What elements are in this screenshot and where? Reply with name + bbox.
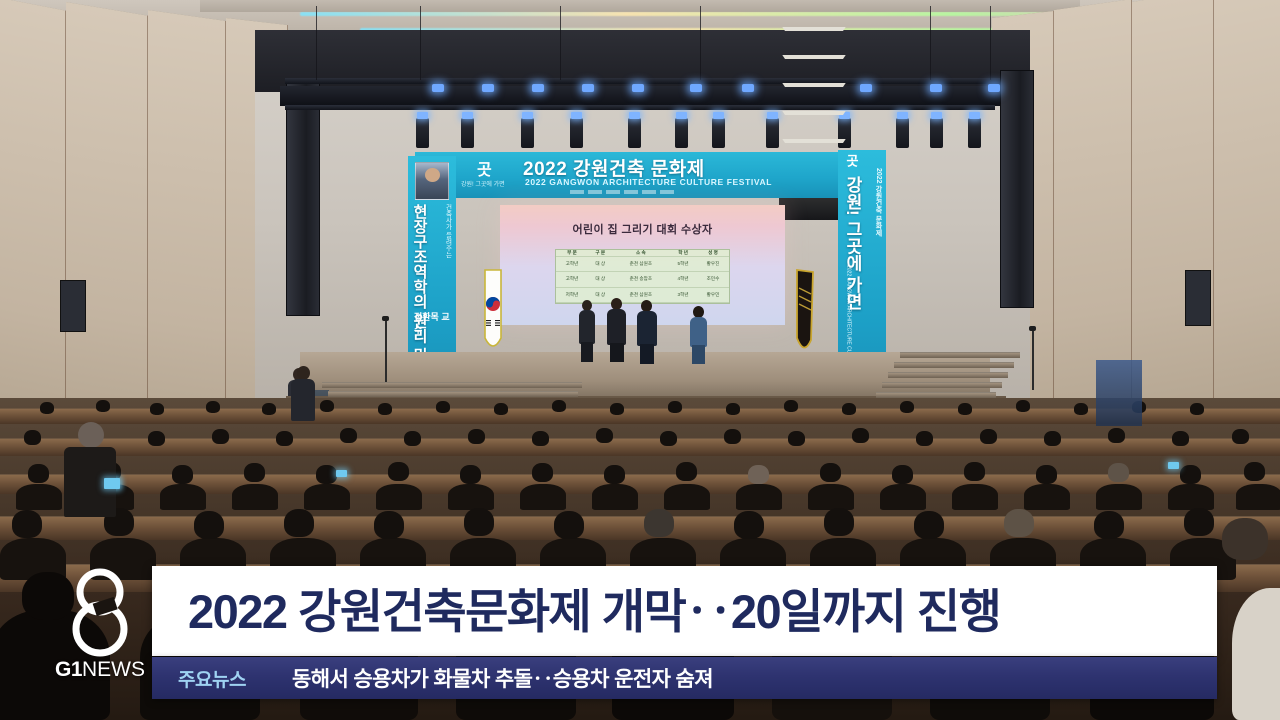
audience-head bbox=[464, 508, 494, 536]
projection-winners-table: 부 문 구 분 소 속 학 년 성 명 고학년 대 상 춘천 삼원초 5학년 황… bbox=[555, 249, 730, 304]
audience-head bbox=[644, 509, 674, 537]
table-cell: 4학년 bbox=[669, 272, 697, 287]
audience-head bbox=[1232, 429, 1249, 444]
audience-head bbox=[436, 401, 450, 413]
audience-head bbox=[206, 401, 220, 413]
audience-head bbox=[284, 509, 314, 537]
audience-head bbox=[610, 403, 624, 415]
truss-hang-wire bbox=[560, 6, 561, 80]
audience-head bbox=[676, 462, 697, 481]
audience-head bbox=[784, 400, 798, 412]
audience-head bbox=[1190, 403, 1204, 415]
headline-text: 2022 강원건축문화제 개막‥20일까지 진행 bbox=[188, 588, 1000, 635]
stage-lamp bbox=[461, 118, 474, 148]
audience-head bbox=[12, 510, 42, 538]
stage-person-award-recipient bbox=[688, 306, 710, 364]
stage-light bbox=[632, 84, 644, 92]
seat-row bbox=[0, 438, 1280, 456]
stage-banner-subtitle: 2022 GANGWON ARCHITECTURE CULTURE FESTIV… bbox=[525, 177, 772, 187]
stage-person-presenter-1 bbox=[576, 300, 598, 362]
audience-head bbox=[378, 403, 392, 415]
audience-head bbox=[494, 403, 508, 415]
ticker-headline-text: 동해서 승용차가 화물차 추돌‥승용차 운전자 숨져 bbox=[292, 663, 713, 693]
truss-rail-lower bbox=[285, 105, 995, 110]
aisle-staff-person bbox=[288, 366, 318, 428]
audience-head bbox=[276, 431, 293, 446]
stage-lamp bbox=[930, 118, 943, 148]
audience-shoulders bbox=[736, 484, 782, 510]
audience-phone-screen bbox=[1168, 462, 1179, 469]
seat-row bbox=[0, 516, 1280, 540]
flag-korea bbox=[482, 268, 504, 360]
headline-banner: 2022 강원건축문화제 개막‥20일까지 진행 bbox=[152, 566, 1217, 656]
audience-head bbox=[1108, 463, 1129, 482]
audience-shoulders bbox=[520, 484, 566, 510]
audience-head bbox=[40, 402, 54, 414]
stage-light bbox=[432, 84, 444, 92]
audience-head bbox=[748, 465, 769, 484]
audience-head bbox=[788, 431, 805, 446]
audience-head bbox=[1172, 431, 1189, 446]
table-cell: 3학년 bbox=[669, 287, 697, 302]
audience-head bbox=[964, 462, 985, 481]
audience-head bbox=[1184, 508, 1214, 536]
table-row: 고학년 대 상 춘천 삼원초 5학년 황우진 bbox=[556, 257, 729, 272]
lift-scissor-segment bbox=[785, 100, 843, 126]
audience-shoulders bbox=[880, 484, 926, 510]
stage-light bbox=[930, 84, 942, 92]
audience-head bbox=[404, 431, 421, 446]
banner-right-small-text: 2022 강원건축 문화제 bbox=[873, 168, 883, 236]
audience-head bbox=[596, 428, 613, 443]
stage-lamp bbox=[968, 118, 981, 148]
wall-speaker-right bbox=[1185, 270, 1211, 326]
table-cell: 대 상 bbox=[588, 272, 613, 287]
audience-foreground-silhouette bbox=[1232, 588, 1280, 720]
network-name-primary: G1 bbox=[55, 658, 82, 681]
audience-head bbox=[1180, 465, 1201, 484]
lift-scissor-segment bbox=[785, 16, 843, 42]
table-cell: 춘천 삼원초 bbox=[613, 257, 670, 272]
audience-shoulders bbox=[232, 484, 278, 510]
audience-shoulders bbox=[664, 484, 710, 510]
audience-head bbox=[900, 401, 914, 413]
microphone bbox=[1029, 326, 1036, 331]
audience-shoulders bbox=[16, 484, 62, 510]
audience-head bbox=[320, 400, 334, 412]
news-ticker-bar: 주요뉴스 동해서 승용차가 화물차 추돌‥승용차 운전자 숨져 bbox=[152, 657, 1217, 699]
audience-head bbox=[1222, 518, 1268, 560]
truss-hang-wire bbox=[420, 6, 421, 80]
audience-head bbox=[660, 431, 677, 446]
truss-hang-wire bbox=[930, 6, 931, 80]
audience-shoulders bbox=[1096, 484, 1142, 510]
stage-light bbox=[690, 84, 702, 92]
audience-shoulders bbox=[1024, 484, 1070, 510]
audience-head bbox=[374, 511, 404, 539]
table-cell: 황우민 bbox=[697, 287, 729, 302]
audience-head bbox=[1016, 400, 1030, 412]
audience-shoulders bbox=[592, 484, 638, 510]
audience-shoulders bbox=[1236, 484, 1280, 510]
audience-head bbox=[604, 465, 625, 484]
audience-head bbox=[388, 462, 409, 481]
table-row: 고학년 대 상 춘천 송암초 4학년 조민수 bbox=[556, 272, 729, 287]
stage-light bbox=[482, 84, 494, 92]
audience-head bbox=[724, 429, 741, 444]
table-cell: 춘천 송암초 bbox=[613, 272, 670, 287]
audience-head bbox=[532, 431, 549, 446]
audience-head bbox=[244, 463, 265, 482]
speaker-stack-right bbox=[1000, 70, 1034, 308]
audience-head bbox=[554, 511, 584, 539]
table-cell: 고학년 bbox=[556, 257, 588, 272]
audience-head bbox=[212, 429, 229, 444]
audience-head bbox=[1044, 431, 1061, 446]
audience-head bbox=[28, 464, 49, 483]
audience-head bbox=[824, 508, 854, 536]
audience-head bbox=[340, 428, 357, 443]
audience-head bbox=[150, 403, 164, 415]
audience-head bbox=[1108, 428, 1125, 443]
audience-head bbox=[892, 465, 913, 484]
stage-lamp bbox=[416, 118, 429, 148]
stage-lamp bbox=[675, 118, 688, 148]
table-cell: 황우진 bbox=[697, 257, 729, 272]
seat-row bbox=[0, 408, 1280, 424]
table-cell: 조민수 bbox=[697, 272, 729, 287]
audience-head bbox=[1074, 403, 1088, 415]
audience-head bbox=[552, 400, 566, 412]
audience-head bbox=[460, 465, 481, 484]
audience-shoulders bbox=[376, 484, 422, 510]
truss-hang-wire bbox=[990, 6, 991, 80]
audience-head bbox=[316, 465, 337, 484]
lift-scissor-segment bbox=[785, 72, 843, 98]
truss-hang-wire bbox=[316, 6, 317, 80]
network-wordmark: G1NEWS bbox=[48, 658, 152, 682]
lift-scissor-segment bbox=[785, 128, 843, 154]
audience-head bbox=[1094, 511, 1124, 539]
truss-hang-wire bbox=[700, 6, 701, 80]
audience-head bbox=[148, 431, 165, 446]
audience-head bbox=[1004, 509, 1034, 537]
channel-8-logo-icon bbox=[64, 566, 136, 658]
ceiling-panel bbox=[200, 0, 1080, 12]
microphone bbox=[382, 316, 389, 321]
audience-shoulders bbox=[160, 484, 206, 510]
presenter-portrait bbox=[415, 162, 449, 200]
stage-person-presenter-2 bbox=[605, 298, 629, 362]
audience-head bbox=[1244, 462, 1265, 481]
audience-head bbox=[914, 511, 944, 539]
stage-light bbox=[742, 84, 754, 92]
stage-lamp bbox=[628, 118, 641, 148]
table-cell: 대 상 bbox=[588, 257, 613, 272]
table-cell: 5학년 bbox=[669, 257, 697, 272]
audience-shoulders bbox=[448, 484, 494, 510]
audience-head bbox=[852, 428, 869, 443]
banner-decor-dots bbox=[570, 190, 674, 194]
stage-person-official bbox=[634, 300, 660, 364]
broadcast-screen: 곳 강원! 그곳에 가면 2022 강원건축 문화제 2022 GANGWON … bbox=[0, 0, 1280, 720]
network-logo-block: G1NEWS bbox=[48, 566, 152, 698]
audience-head bbox=[468, 429, 485, 444]
audience-shoulders bbox=[952, 484, 998, 510]
festival-logo-mark: 곳 bbox=[477, 156, 492, 180]
audience-head bbox=[734, 511, 764, 539]
audience-head bbox=[726, 403, 740, 415]
stage-lamp bbox=[521, 118, 534, 148]
audience-head bbox=[842, 403, 856, 415]
audience-head bbox=[24, 430, 41, 445]
banner-right-logo-mark: 곳 bbox=[842, 154, 861, 167]
microphone-stand bbox=[1032, 330, 1034, 390]
audience-head bbox=[1036, 465, 1057, 484]
audience-head bbox=[172, 465, 193, 484]
speaker-stack-left bbox=[286, 78, 320, 316]
flag-organization bbox=[793, 268, 817, 362]
microphone-stand bbox=[385, 320, 387, 382]
network-name-secondary: NEWS bbox=[82, 658, 145, 681]
lift-scissor-segment bbox=[785, 44, 843, 70]
projection-title: 어린이 집 그리기 대회 수상자 bbox=[500, 221, 785, 237]
audience-head bbox=[262, 403, 276, 415]
banner-left-presenter: 정환목 교수 bbox=[414, 310, 456, 336]
stage-light bbox=[988, 84, 1000, 92]
audience-phone-screen bbox=[336, 470, 347, 477]
stage-lamp bbox=[712, 118, 725, 148]
audience-shoulders bbox=[1168, 484, 1214, 510]
stage-lamp bbox=[896, 118, 909, 148]
audience-head bbox=[532, 463, 553, 482]
audience-shoulders bbox=[808, 484, 854, 510]
audience-head bbox=[958, 403, 972, 415]
side-door-panel bbox=[1096, 360, 1142, 426]
banner-left-headline-small: 건축사가 들려주는 bbox=[442, 204, 452, 258]
audience-head bbox=[668, 401, 682, 413]
audience-head bbox=[194, 511, 224, 539]
stage-banner-main: 곳 강원! 그곳에 가면 2022 강원건축 문화제 2022 GANGWON … bbox=[415, 152, 865, 198]
audience-head bbox=[980, 429, 997, 444]
stage-light bbox=[582, 84, 594, 92]
audience-shoulders bbox=[304, 484, 350, 510]
festival-logo-sub: 강원! 그곳에 가면 bbox=[461, 179, 505, 188]
audience-head bbox=[916, 431, 933, 446]
audience-head bbox=[820, 463, 841, 482]
stage-light bbox=[532, 84, 544, 92]
ticker-category-label: 주요뉴스 bbox=[178, 665, 274, 692]
stage-lamp bbox=[570, 118, 583, 148]
standing-person-phone bbox=[104, 478, 120, 489]
stage-light bbox=[860, 84, 872, 92]
table-cell: 고학년 bbox=[556, 272, 588, 287]
wall-speaker-left bbox=[60, 280, 86, 332]
audience-head bbox=[96, 400, 110, 412]
